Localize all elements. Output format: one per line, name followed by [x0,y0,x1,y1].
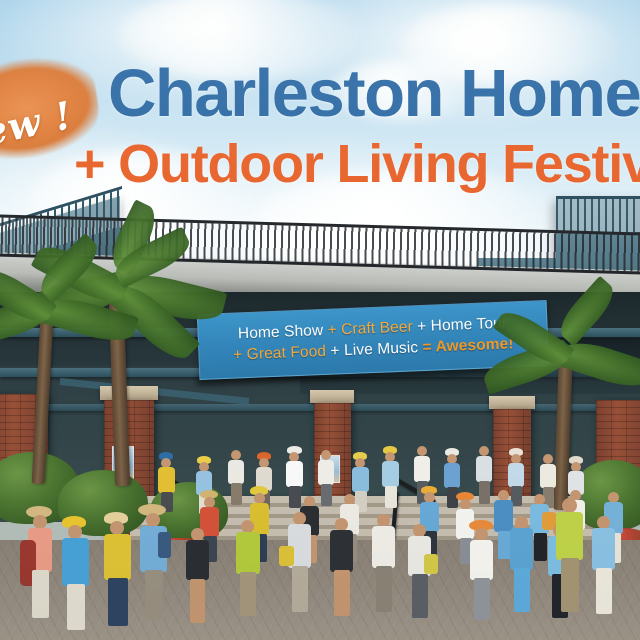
torso [476,456,492,482]
torso [592,528,615,570]
torso [352,467,369,492]
new-badge: New ! [0,39,106,179]
legs [321,484,332,506]
legs [292,566,308,612]
banner-plus-1: + [327,321,341,339]
head [110,521,124,535]
banner-live-music: Live Music [344,339,419,359]
legs [67,584,85,630]
torso [508,463,524,487]
torso [330,530,353,572]
legs [32,570,49,618]
title-line-2: + Outdoor Living Festival [74,137,640,191]
torso [236,532,260,574]
legs [514,568,530,612]
legs [240,572,256,616]
head [33,515,47,529]
backpack [158,532,171,558]
legs [385,486,397,508]
banner-plus-2: + [412,317,431,335]
torso [556,512,583,560]
banner-home-show: Home Show [238,321,328,342]
head [231,450,241,460]
legs [474,578,490,620]
tote-bag [279,546,294,566]
head [321,450,331,460]
torso [444,463,460,488]
legs [561,558,579,612]
legs [534,533,547,561]
pillar-cap-center [310,390,354,403]
head [479,446,489,456]
head [543,454,553,464]
torso [286,461,303,487]
torso [494,500,513,532]
banner-awesome: Awesome! [435,335,514,355]
banner-craft-beer: Craft Beer [341,318,413,338]
banner-plus-4: + [326,342,345,360]
pillar-cap-right [489,396,535,409]
legs [289,486,301,508]
legs [412,574,428,618]
torso [158,467,175,493]
torso [186,540,209,580]
torso [62,538,89,586]
torso [318,460,334,485]
torso [414,456,430,482]
title-line-1: Charleston Home [108,60,640,127]
head [417,446,427,456]
legs [479,481,490,504]
legs [376,566,392,612]
torso [372,526,395,568]
torso [382,461,399,487]
legs [231,483,242,505]
legs [596,568,612,614]
legs [145,570,163,620]
head [562,498,577,513]
banner-plus-3: + [233,346,247,364]
legs [190,579,205,623]
banner-great-food: Great Food [246,343,326,363]
banner-equals: = [418,339,436,357]
festival-poster-image: Home Show + Craft Beer + Home Tour + Gre… [0,0,640,640]
tote-bag [424,554,438,574]
torso [104,534,131,580]
legs [334,570,350,616]
torso [540,464,556,488]
head [146,513,160,527]
torso [470,540,493,580]
torso [228,460,244,484]
torso [510,528,533,570]
head [68,525,82,539]
pillar-cap-left [100,386,158,400]
legs [108,578,128,626]
